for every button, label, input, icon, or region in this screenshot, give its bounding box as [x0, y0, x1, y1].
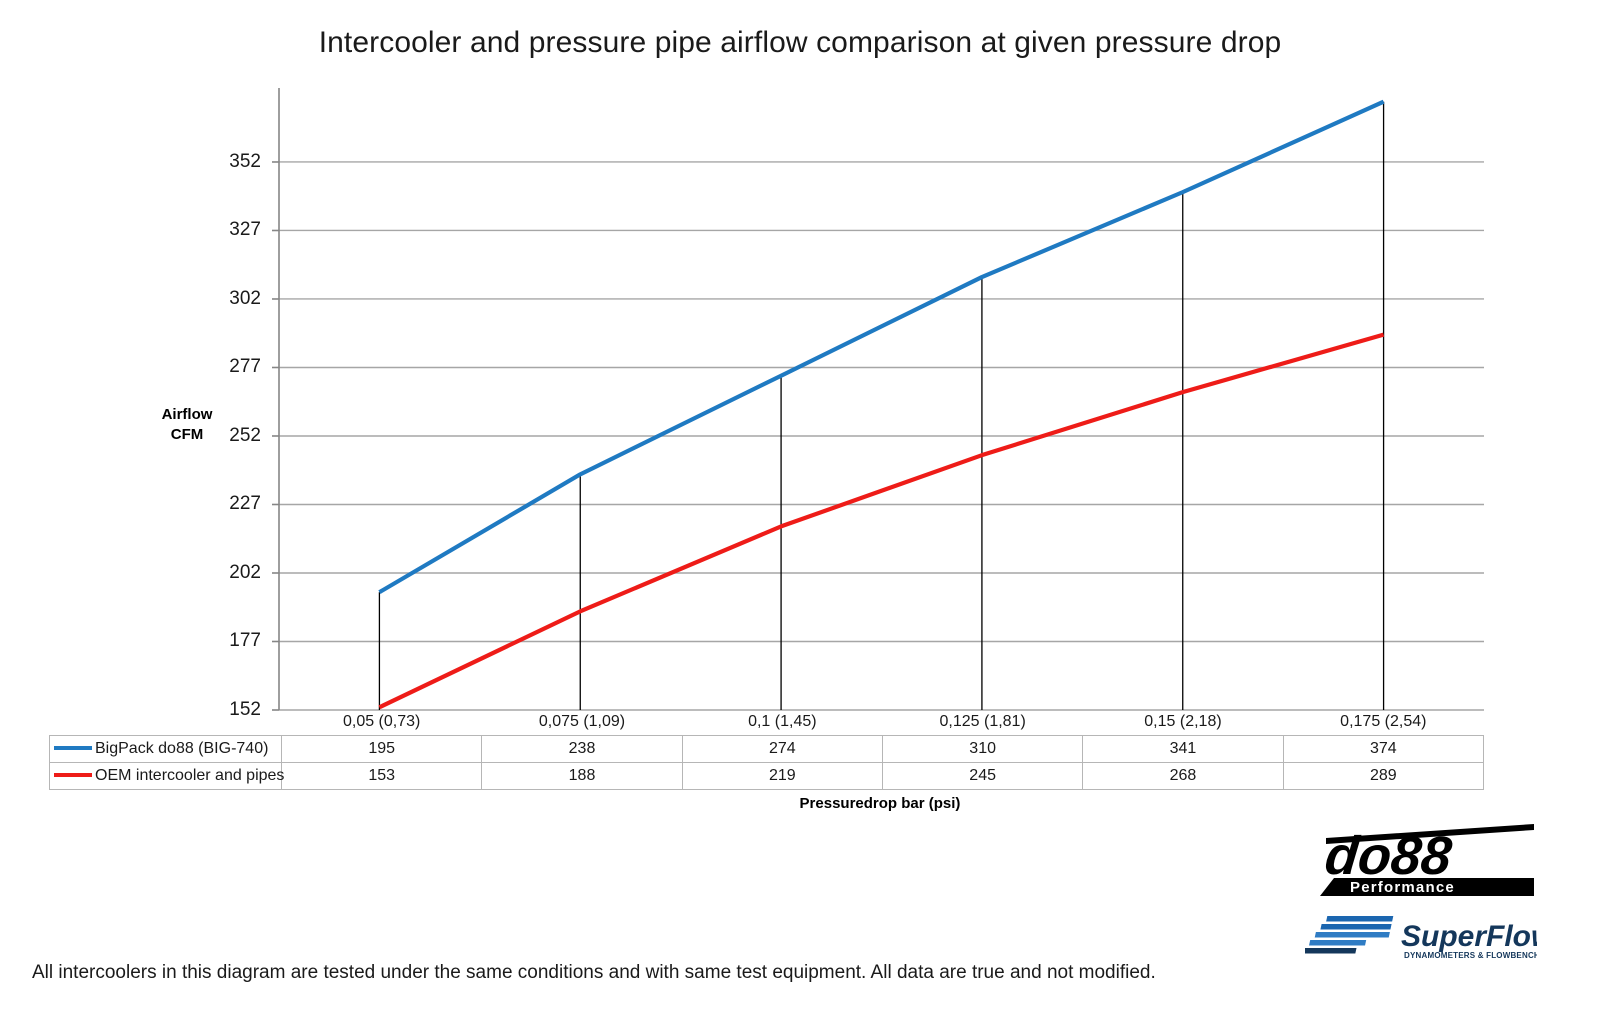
legend-swatch: [54, 773, 92, 777]
table-corner-cell: [50, 709, 282, 736]
superflow-wordmark: SuperFlow: [1401, 920, 1537, 953]
legend-entry: OEM intercooler and pipes: [50, 763, 282, 790]
x-category-label: 0,05 (0,73): [282, 709, 482, 736]
series-line-0: [379, 102, 1383, 592]
y-tick-label: 202: [201, 562, 261, 584]
table-value-cell: 219: [682, 763, 882, 790]
table-row-categories: 0,05 (0,73)0,075 (1,09)0,1 (1,45)0,125 (…: [50, 709, 1484, 736]
x-category-label: 0,125 (1,81): [882, 709, 1082, 736]
table-value-cell: 341: [1083, 736, 1283, 763]
legend-label: BigPack do88 (BIG-740): [95, 740, 268, 757]
table-value-cell: 188: [482, 763, 682, 790]
legend-swatch: [54, 746, 92, 750]
superflow-logo-mark: SuperFlow DYNAMOMETERS & FLOWBENCHES: [1305, 908, 1537, 964]
superflow-logo: SuperFlow DYNAMOMETERS & FLOWBENCHES: [1305, 908, 1537, 964]
table-value-cell: 289: [1283, 763, 1483, 790]
table-value-cell: 268: [1083, 763, 1283, 790]
x-category-label: 0,075 (1,09): [482, 709, 682, 736]
table-value-cell: 310: [882, 736, 1082, 763]
y-tick-label: 302: [201, 288, 261, 310]
footer-disclaimer: All intercoolers in this diagram are tes…: [32, 962, 1156, 984]
table-value-cell: 274: [682, 736, 882, 763]
table-value-cell: 153: [282, 763, 482, 790]
do88-wordmark: do88: [1322, 826, 1455, 886]
x-axis-title: Pressuredrop bar (psi): [275, 795, 1485, 812]
do88-logo: do88 Performance: [1308, 812, 1534, 896]
table-value-cell: 245: [882, 763, 1082, 790]
table-row: BigPack do88 (BIG-740)195238274310341374: [50, 736, 1484, 763]
legend-label: OEM intercooler and pipes: [95, 767, 284, 784]
legend-entry: BigPack do88 (BIG-740): [50, 736, 282, 763]
y-tick-label: 227: [201, 493, 261, 515]
x-category-label: 0,15 (2,18): [1083, 709, 1283, 736]
y-tick-label: 352: [201, 151, 261, 173]
do88-logo-mark: do88 Performance: [1308, 812, 1534, 896]
table-row: OEM intercooler and pipes153188219245268…: [50, 763, 1484, 790]
y-tick-label: 177: [201, 630, 261, 652]
superflow-tagline: DYNAMOMETERS & FLOWBENCHES: [1404, 951, 1537, 960]
chart-data-table: 0,05 (0,73)0,075 (1,09)0,1 (1,45)0,125 (…: [49, 709, 1484, 790]
series-line-1: [379, 335, 1383, 708]
y-tick-label: 327: [201, 219, 261, 241]
x-category-label: 0,175 (2,54): [1283, 709, 1483, 736]
y-tick-label: 277: [201, 356, 261, 378]
do88-tagline: Performance: [1350, 879, 1455, 896]
x-category-label: 0,1 (1,45): [682, 709, 882, 736]
table-value-cell: 238: [482, 736, 682, 763]
table-value-cell: 374: [1283, 736, 1483, 763]
table-value-cell: 195: [282, 736, 482, 763]
y-tick-label: 252: [201, 425, 261, 447]
y-axis-title-line1: Airflow: [152, 405, 222, 425]
